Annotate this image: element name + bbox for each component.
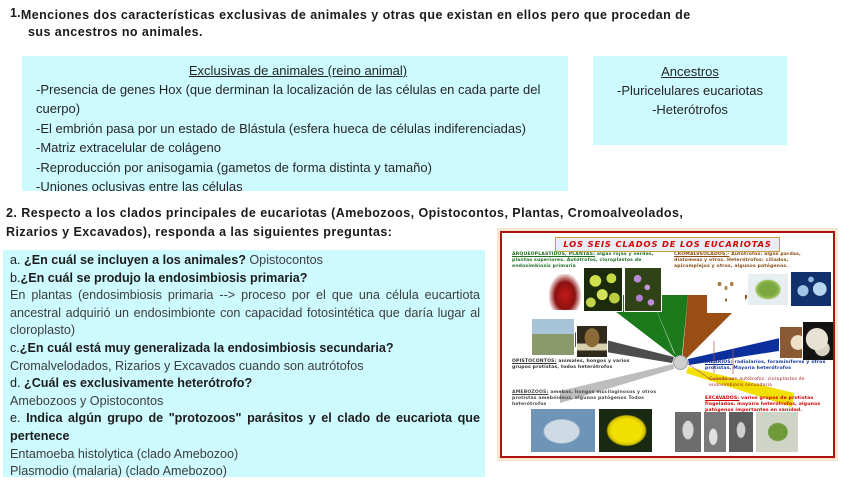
answer-text-c: Cromalvelodados, Rizarios y Excavados cu… [10, 358, 480, 376]
answer-text-e-2: Plasmodio (malaria) (clado Amebozoo) [10, 463, 480, 481]
label-arqueoplastidos-name: ARQUEOPLASTIDOS, PLANTAS: [512, 252, 595, 257]
common-ancestor-hub [673, 355, 688, 370]
figure-banner-title: LOS SEIS CLADOS DE LOS EUCARIOTAS [555, 237, 779, 252]
answer-item-c: c.¿En cuál está muy generalizada la endo… [10, 340, 480, 358]
box-exclusivas-title: Exclusivas de animales (reino animal) [36, 61, 560, 80]
answer-item-d: d. ¿Cuál es exclusivamente heterótrofo? [10, 375, 480, 393]
answer-item-a: a. ¿En cuál se incluyen a los animales? … [10, 252, 480, 270]
box-exclusivas-line: -Uniones oclusivas entre las células [36, 177, 560, 196]
label-arqueoplastidos: ARQUEOPLASTIDOS, PLANTAS: algas rojas y … [512, 252, 662, 270]
answer-letter-a: a. [10, 253, 24, 267]
photo-red-algae [548, 273, 582, 311]
label-endosimbiosis-secundaria-note: Cuando son autótrofos: cloroplastos de e… [709, 377, 833, 389]
answer-item-e: e. Indica algún grupo de "protozoos" par… [10, 410, 480, 445]
photo-ciliate [747, 273, 789, 306]
box-ancestros: Ancestros -Pluricelulares eucariotas -He… [593, 56, 787, 145]
answer-letter-b: b. [10, 271, 21, 285]
question-1-number: 1. [10, 6, 21, 20]
box-exclusivas-line: -Reproducción por anisogamia (gametos de… [36, 158, 560, 177]
photo-foraminifera [802, 321, 835, 361]
photo-apicomplexa [790, 271, 832, 307]
answer-question-a: ¿En cuál se incluyen a los animales? [24, 253, 246, 267]
answer-question-b: ¿En cuál se produjo la endosimbiosis pri… [21, 271, 308, 285]
answer-letter-c: c. [10, 341, 20, 355]
question-1-block: 1.Menciones dos características exclusiv… [10, 6, 838, 39]
answer-question-e: Indica algún grupo de "protozoos" parási… [10, 411, 480, 443]
label-amebozoos: AMEBOZOOS: amebas, hongos mucilaginosos … [512, 390, 672, 408]
question-2-line-1: 2. Respecto a los clados principales de … [6, 204, 838, 223]
answer-text-d: Amebozoos y Opistocontos [10, 393, 480, 411]
answer-question-c: ¿En cuál está muy generalizada la endosi… [20, 341, 394, 355]
label-cromoalveolados: CROMALVEOLADOS.- Autótrofos: algas parda… [674, 252, 824, 270]
eukaryote-clades-figure: LOS SEIS CLADOS DE LOS EUCARIOTAS [497, 228, 838, 461]
figure-banner: LOS SEIS CLADOS DE LOS EUCARIOTAS [502, 234, 833, 250]
label-opistocontos: OPISTOCONTOS: animales, hongos y varios … [512, 359, 632, 371]
answer-text-e-1: Entamoeba histolytica (clado Amebozoo) [10, 446, 480, 464]
label-rizarios: RIZARIOS: radiolarios, foraminíferos y o… [705, 360, 835, 372]
box-exclusivas-line: -Presencia de genes Hox (que derminan la… [36, 80, 560, 99]
box-exclusivas-de-animales: Exclusivas de animales (reino animal) -P… [22, 56, 568, 191]
label-excavados-name: EXCAVADOS: [705, 396, 739, 401]
box-ancestros-line: -Heterótrofos [599, 100, 781, 119]
answer-inline-a: Opistocontos [246, 253, 323, 267]
label-rizarios-name: RIZARIOS: [705, 360, 733, 365]
label-excavados: EXCAVADOS: varios grupos de protistas fl… [705, 396, 835, 414]
answer-letter-e: e. [10, 411, 26, 425]
answer-item-b: b.¿En cuál se produjo la endosimbiosis p… [10, 270, 480, 288]
box-exclusivas-line: -El embrión pasa por un estado de Blástu… [36, 119, 560, 138]
label-opistocontos-name: OPISTOCONTOS: [512, 359, 557, 364]
photo-excavate-1 [674, 411, 702, 453]
answer-letter-d: d. [10, 376, 24, 390]
box-ancestros-line: -Pluricelulares eucariotas [599, 81, 781, 100]
photo-euglena [755, 411, 799, 453]
photo-excavate-3 [728, 411, 754, 453]
photo-amoeba [530, 408, 596, 453]
box-exclusivas-line: -Matriz extracelular de colágeno [36, 138, 560, 157]
photo-green-algae [583, 267, 623, 312]
figure-inner-frame: LOS SEIS CLADOS DE LOS EUCARIOTAS [500, 231, 835, 458]
box-ancestros-title: Ancestros [599, 62, 781, 81]
question-1-text: Menciones dos características exclusivas… [21, 8, 691, 22]
label-amebozoos-name: AMEBOZOOS: [512, 390, 548, 395]
photo-excavate-2 [703, 411, 727, 453]
question-1-line-2: sus ancestros no animales. [28, 25, 838, 39]
question-1-line-1: 1.Menciones dos características exclusiv… [10, 6, 838, 25]
answer-question-d: ¿Cuál es exclusivamente heterótrofo? [24, 376, 252, 390]
photo-slime-mold [598, 408, 653, 453]
answers-box: a. ¿En cuál se incluyen a los animales? … [3, 250, 485, 477]
photo-mushroom [576, 325, 608, 358]
box-exclusivas-line: cuerpo) [36, 99, 560, 118]
answer-text-b: En plantas (endosimbiosis primaria --> p… [10, 287, 480, 340]
photo-penguin [531, 318, 575, 356]
photo-flowering-plant [624, 267, 662, 312]
label-cromoalveolados-name: CROMALVEOLADOS.- [674, 252, 729, 257]
photo-brown-algae [707, 271, 745, 313]
